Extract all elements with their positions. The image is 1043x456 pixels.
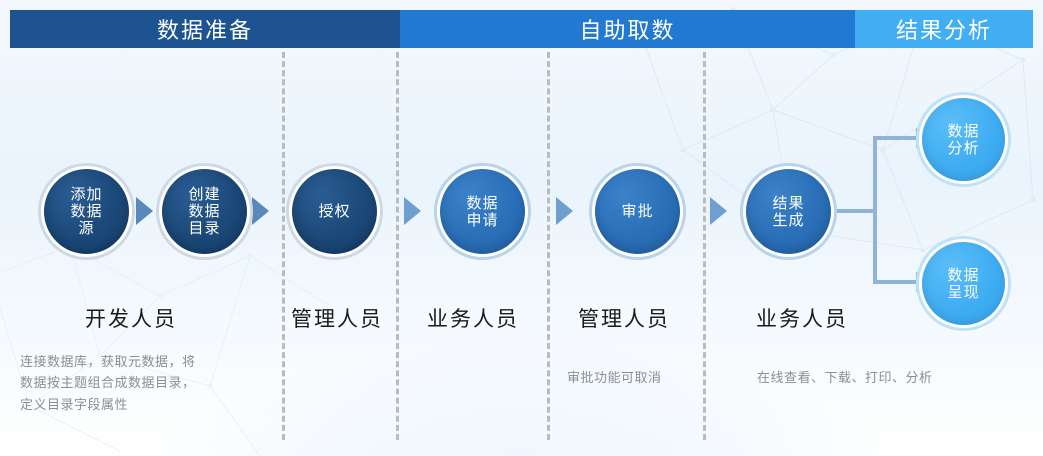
node-approval[interactable]: 审批 [589,163,686,260]
node-label: 结果 生成 [746,169,831,254]
network-decoration-bottom-left [0,216,330,456]
phase-band-self-service-query: 自助取数 [400,10,855,48]
node-label: 数据 申请 [440,169,525,254]
description-approval: 审批功能可取消 [567,368,747,389]
diagram-canvas: 数据准备 自助取数 结果分析 添加 数据 源 创建 数据 目录 [0,0,1043,456]
node-result-generate[interactable]: 结果 生成 [740,163,837,260]
arrow-authorize-to-request [404,197,421,225]
phase-band-group: 数据准备 自助取数 结果分析 [10,10,1033,48]
role-label-business-1: 业务人员 [427,303,519,333]
role-label-admin-1: 管理人员 [291,303,383,333]
node-label: 创建 数据 目录 [162,169,247,254]
lane-divider-2 [396,52,399,440]
node-label: 审批 [595,169,680,254]
description-data-preparation: 连接数据库，获取元数据，将 数据按主题组合成数据目录， 定义目录字段属性 [20,352,265,416]
phase-band-label: 数据准备 [157,13,253,45]
lane-divider-1 [282,52,285,440]
arrow-request-to-approval [556,197,573,225]
role-label-developer: 开发人员 [85,303,177,333]
node-data-request[interactable]: 数据 申请 [434,163,531,260]
node-label: 数据 分析 [922,98,1005,181]
phase-band-label: 自助取数 [579,13,675,45]
arrow-add-to-create [136,197,153,225]
node-data-analysis[interactable]: 数据 分析 [916,92,1011,187]
role-label-admin-2: 管理人员 [578,303,670,333]
node-label: 添加 数据 源 [44,169,129,254]
node-data-present[interactable]: 数据 呈现 [916,236,1011,331]
node-label: 数据 呈现 [922,242,1005,325]
arrow-create-to-authorize [252,197,269,225]
lane-divider-3 [547,52,550,440]
role-label-business-2: 业务人员 [756,303,848,333]
arrow-approval-to-result [710,197,727,225]
description-result: 在线查看、下载、打印、分析 [757,368,1017,389]
node-add-data-source[interactable]: 添加 数据 源 [38,163,135,260]
node-label: 授权 [292,169,377,254]
node-create-catalog[interactable]: 创建 数据 目录 [156,163,253,260]
node-authorize[interactable]: 授权 [286,163,383,260]
phase-band-label: 结果分析 [896,13,992,45]
phase-band-result-analysis: 结果分析 [855,10,1033,48]
phase-band-data-preparation: 数据准备 [10,10,400,48]
